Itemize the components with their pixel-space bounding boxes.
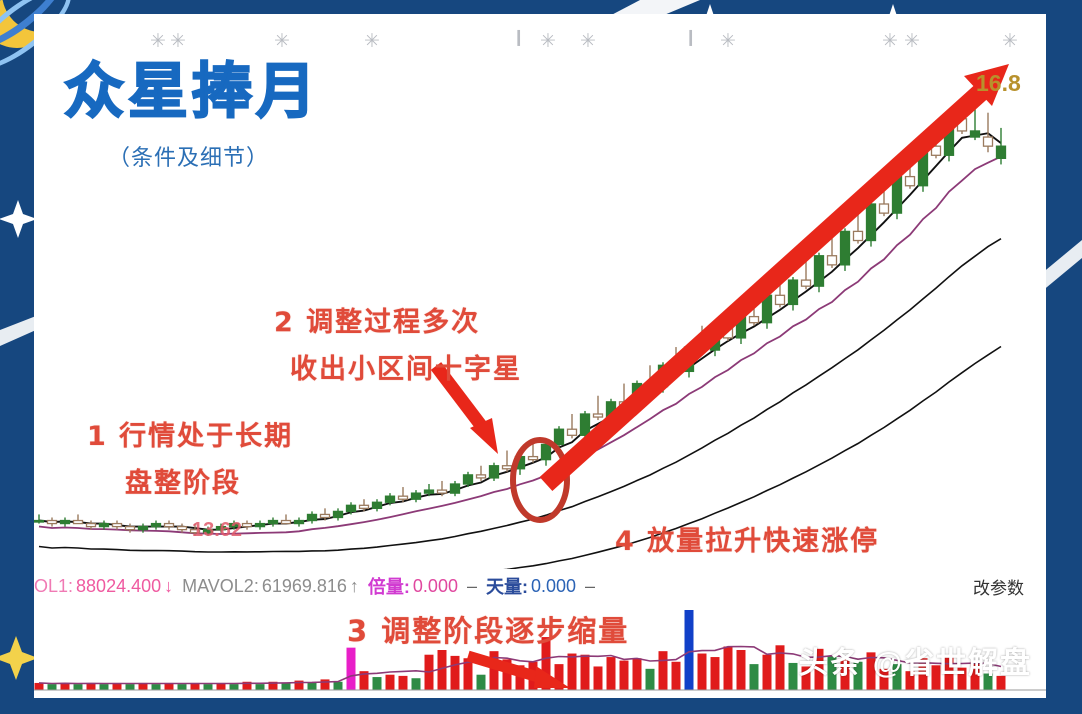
volume-bar: [347, 648, 356, 690]
candle-body: [334, 511, 343, 517]
mavol2-label: MAVOL2:: [182, 576, 259, 597]
mavol2-value: 61969.816: [262, 576, 347, 597]
candle-body: [997, 146, 1006, 158]
candle-body: [126, 527, 135, 530]
candle-body: [87, 524, 96, 527]
watermark: 头条 @省世解盘: [798, 638, 1032, 682]
annotation-1: 1 行情处于长期 盘整阶段: [87, 414, 293, 500]
beiliang-readout: 倍量: 0.000: [368, 573, 458, 599]
volume-bar: [386, 675, 395, 690]
mavol2-readout: MAVOL2: 61969.816 ↑: [182, 576, 359, 597]
candle-body: [178, 527, 187, 530]
candle-body: [425, 490, 434, 493]
separator-dash: –: [467, 576, 477, 597]
volume-bar: [633, 658, 642, 690]
candle-body: [61, 521, 70, 524]
volume-bar: [607, 657, 616, 690]
volume-bar: [48, 684, 57, 690]
volume-bar: [659, 651, 668, 690]
page-subtitle: （条件及细节）: [108, 140, 320, 172]
candle-body: [139, 527, 148, 530]
candle-body: [35, 521, 44, 523]
candle-body: [100, 524, 109, 527]
volume-bar: [685, 610, 694, 690]
candle-body: [347, 505, 356, 511]
candle-body: [321, 514, 330, 517]
price-label-consolidation: 13.62: [192, 519, 242, 542]
annotation-2: 2 调整过程多次 收出小区间十字星: [274, 300, 522, 386]
annotation-3: 3 调整阶段逐步缩量: [347, 608, 629, 650]
candle-body: [503, 466, 512, 469]
volume-bar: [178, 684, 187, 690]
candle-body: [113, 524, 122, 527]
candle-body: [451, 484, 460, 493]
volume-bar: [35, 683, 44, 690]
volume-bar: [737, 650, 746, 690]
candle-body: [880, 204, 889, 213]
volume-bar: [724, 646, 733, 690]
change-params-button[interactable]: 改参数: [973, 574, 1024, 599]
candle-body: [828, 256, 837, 265]
volume-bar: [776, 645, 785, 690]
volume-bar: [308, 683, 317, 690]
tianliang-readout: 天量: 0.000: [486, 573, 576, 599]
candle-body: [984, 137, 993, 146]
candle-body: [48, 521, 57, 524]
volume-bar: [282, 683, 291, 690]
volume-bar: [204, 684, 213, 690]
candle-body: [295, 521, 304, 524]
volume-bar: [672, 662, 681, 690]
candle-body: [555, 429, 564, 444]
indicator-status-line: OL1: 88024.400 ↓ MAVOL2: 61969.816 ↑ 倍量:…: [34, 572, 1046, 600]
volume-bar: [412, 678, 421, 690]
trend-arrow: [546, 64, 1009, 484]
page-title: 众星捧月: [64, 62, 320, 122]
volume-bar: [399, 676, 408, 690]
volume-bar: [750, 664, 759, 690]
candle-body: [802, 280, 811, 286]
annotation-1-line1: 1 行情处于长期: [87, 421, 293, 452]
content-card: ✳ ✳ ✳ ✳ ❙ ✳ ✳ ❙ ✳ ✳ ✳ ✳: [34, 14, 1046, 698]
candle-body: [464, 475, 473, 484]
candle-body: [867, 204, 876, 241]
volume-bar: [620, 661, 629, 690]
candle-body: [74, 521, 83, 524]
candle-body: [308, 514, 317, 520]
frame-star-yellow: [0, 636, 38, 680]
candle-body: [165, 524, 174, 527]
candle-body: [399, 496, 408, 499]
volume-bar: [646, 669, 655, 690]
candle-body: [542, 444, 551, 459]
candle-body: [282, 521, 291, 524]
annotation-3-arrow: [464, 650, 584, 696]
candle-body: [477, 475, 486, 478]
candle-body: [360, 505, 369, 508]
volume-bar: [334, 682, 343, 690]
beiliang-label: 倍量:: [368, 573, 410, 599]
candle-body: [594, 414, 603, 417]
volume-bar: [763, 655, 772, 690]
candle-body: [568, 429, 577, 435]
screenshot-root: ✳ ✳ ✳ ✳ ❙ ✳ ✳ ❙ ✳ ✳ ✳ ✳: [0, 0, 1082, 714]
candle-body: [529, 457, 538, 460]
volume-bar: [373, 677, 382, 690]
candle-body: [906, 177, 915, 186]
candle-body: [854, 231, 863, 240]
volume-bar: [321, 679, 330, 690]
tianliang-label: 天量:: [486, 573, 528, 599]
mavol1-value: 88024.400: [76, 576, 161, 597]
candle-body: [750, 317, 759, 323]
streak-left: [0, 316, 36, 346]
volume-bar: [594, 666, 603, 690]
candle-body: [789, 280, 798, 304]
candle-body: [841, 231, 850, 264]
volume-bar: [451, 656, 460, 690]
mavol1-label: OL1:: [34, 576, 73, 597]
candle-body: [152, 524, 161, 527]
candle-body: [256, 524, 265, 527]
volume-bar: [152, 684, 161, 690]
volume-bar: [698, 654, 707, 690]
volume-bar: [126, 684, 135, 690]
separator-dash-2: –: [585, 576, 595, 597]
volume-bar: [100, 684, 109, 690]
annotation-2-line1: 2 调整过程多次: [274, 307, 480, 338]
annotation-4: 4 放量拉升快速涨停: [615, 519, 879, 558]
candle-body: [490, 466, 499, 478]
candle-body: [971, 131, 980, 137]
title-block: 众星捧月 （条件及细节）: [64, 62, 320, 172]
volume-bar: [256, 684, 265, 690]
candle-body: [373, 502, 382, 508]
price-label-top-right: 16.8: [976, 70, 1021, 97]
volume-bar: [230, 684, 239, 690]
candle-body: [269, 521, 278, 524]
candle-body: [815, 256, 824, 286]
candle-body: [243, 524, 252, 527]
candle-body: [776, 295, 785, 304]
candle-body: [581, 414, 590, 435]
down-arrow-icon: ↓: [164, 576, 173, 597]
annotation-1-line2: 盘整阶段: [125, 461, 293, 500]
volume-bar: [711, 657, 720, 690]
candle-body: [412, 493, 421, 499]
candle-body: [438, 490, 447, 493]
annotation-2-line2: 收出小区间十字星: [290, 347, 522, 386]
volume-bar: [789, 663, 798, 690]
mavol1-readout: OL1: 88024.400 ↓: [34, 576, 173, 597]
up-arrow-icon: ↑: [350, 576, 359, 597]
candle-body: [386, 496, 395, 502]
tianliang-value: 0.000: [531, 576, 576, 597]
volume-bar: [74, 684, 83, 690]
beiliang-value: 0.000: [413, 576, 458, 597]
